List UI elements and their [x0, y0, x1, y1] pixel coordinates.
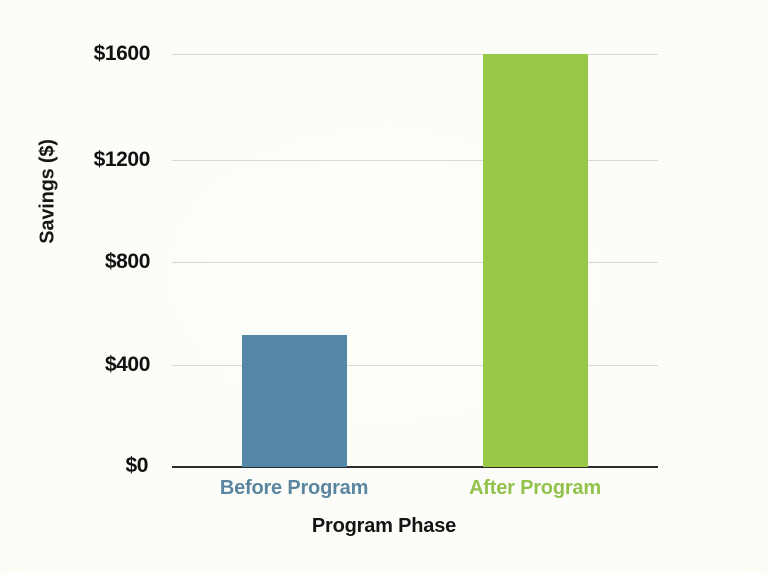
y-tick-label-400: $400 — [105, 353, 150, 377]
bar-chart: Savings ($) $1600 $1200 $800 $400 $0 Bef… — [0, 0, 768, 573]
bar-before-program[interactable]: Before Program — [242, 335, 347, 467]
y-tick-label-0: $0 — [125, 454, 148, 478]
y-axis-title: Savings ($) — [37, 82, 60, 302]
x-tick-label-after-program: After Program — [469, 477, 601, 500]
x-axis-title: Program Phase — [0, 515, 768, 538]
y-tick-label-1600: $1600 — [94, 42, 150, 66]
y-tick-label-1200: $1200 — [94, 148, 150, 172]
y-tick-label-800: $800 — [105, 250, 150, 274]
plot-area: $1600 $1200 $800 $400 $0 Before Program … — [172, 40, 658, 467]
x-tick-label-before-program: Before Program — [220, 477, 368, 500]
bar-after-program[interactable]: After Program — [483, 54, 588, 467]
